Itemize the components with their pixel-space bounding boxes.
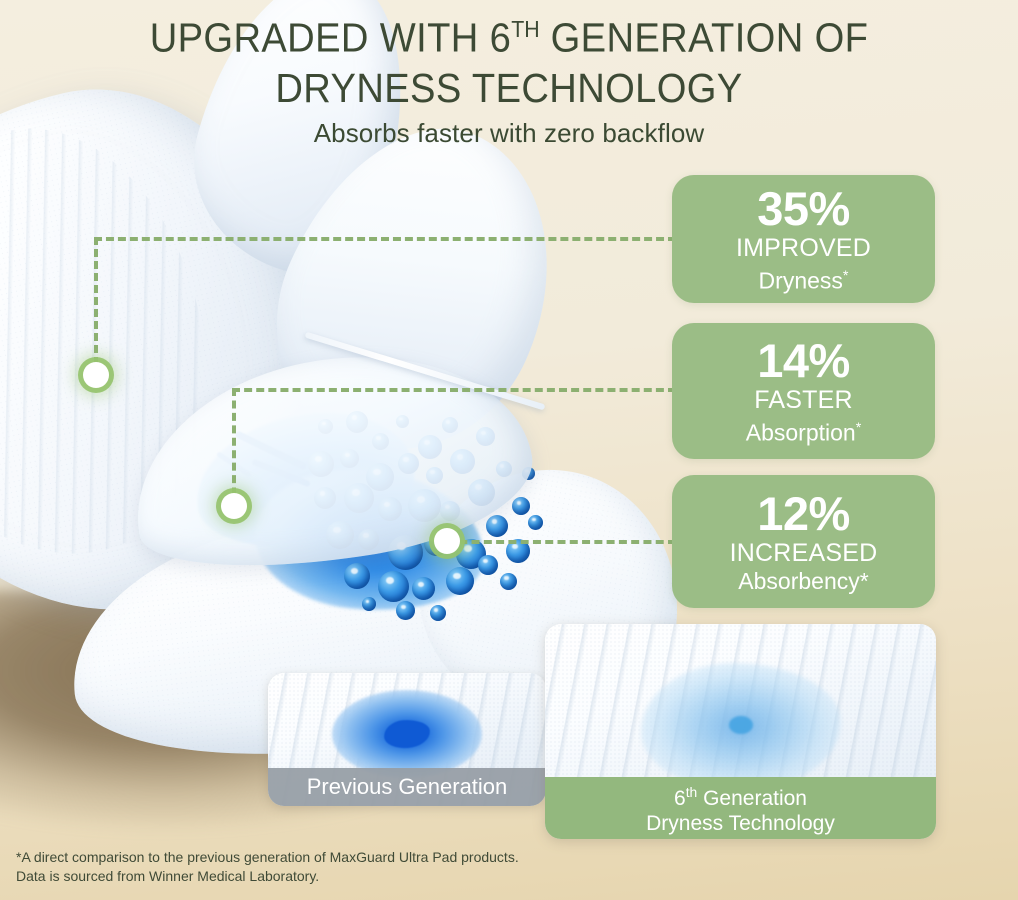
- callout-line-vertical-1: [94, 237, 98, 377]
- footnote: *A direct comparison to the previous gen…: [16, 848, 656, 886]
- comparison-label-line1: 6th Generation: [674, 780, 807, 811]
- page-title: UPGRADED WITH 6TH GENERATION OF DRYNESS …: [36, 4, 983, 113]
- title-line2: DRYNESS TECHNOLOGY: [36, 63, 983, 113]
- gel-bead: [430, 605, 446, 621]
- gel-bead: [512, 497, 530, 515]
- footnote-asterisk: *: [843, 268, 849, 284]
- gel-bead: [528, 515, 543, 530]
- title-line1-rest: GENERATION OF: [540, 15, 869, 61]
- comparison-label-previous: Previous Generation: [268, 768, 546, 806]
- generation-ordinal-suffix: th: [686, 784, 698, 800]
- page-subtitle: Absorbs faster with zero backflow: [0, 118, 1018, 149]
- stat-card-absorbency[interactable]: 12% INCREASED Absorbency*: [672, 475, 935, 608]
- gel-bead: [362, 597, 376, 611]
- title-line1-text: UPGRADED WITH 6: [150, 15, 511, 61]
- footnote-line2: Data is sourced from Winner Medical Labo…: [16, 867, 656, 886]
- stat-label-text: Dryness: [759, 267, 843, 293]
- callout-line-horizontal-1: [94, 237, 676, 241]
- footnote-line1: *A direct comparison to the previous gen…: [16, 848, 656, 867]
- generation-word: Generation: [697, 787, 807, 810]
- callout-line-vertical-2: [232, 388, 236, 508]
- gel-bead: [344, 563, 370, 589]
- callout-dot-1[interactable]: [83, 362, 109, 388]
- gel-bead: [412, 577, 435, 600]
- gel-bead: [500, 573, 517, 590]
- stat-percent: 12%: [757, 489, 850, 539]
- stat-label: Absorbency*: [738, 568, 868, 595]
- stat-card-dryness[interactable]: 35% IMPROVED Dryness*: [672, 175, 935, 303]
- stat-keyword: IMPROVED: [736, 234, 871, 263]
- gel-bead: [378, 571, 409, 602]
- generation-number: 6: [674, 787, 686, 810]
- stat-label: Absorption*: [746, 415, 862, 447]
- comparison-label-line2: Dryness Technology: [646, 811, 835, 836]
- stat-percent: 35%: [757, 184, 850, 234]
- comparison-label-current: 6th Generation Dryness Technology: [545, 777, 936, 839]
- stat-label-text: Absorption: [746, 419, 856, 445]
- gel-bead: [486, 515, 508, 537]
- comparison-panel-previous[interactable]: Previous Generation: [268, 673, 546, 806]
- footnote-asterisk: *: [856, 420, 862, 436]
- callout-dot-3[interactable]: [434, 528, 460, 554]
- callout-dot-2[interactable]: [221, 493, 247, 519]
- gel-bead: [478, 555, 498, 575]
- callout-line-horizontal-3: [447, 540, 676, 544]
- gel-bead: [396, 601, 415, 620]
- stat-card-absorption[interactable]: 14% FASTER Absorption*: [672, 323, 935, 459]
- comparison-panel-current[interactable]: 6th Generation Dryness Technology: [545, 624, 936, 839]
- title-ordinal-suffix: TH: [511, 16, 539, 42]
- stat-label: Dryness*: [759, 263, 849, 295]
- stat-keyword: INCREASED: [730, 539, 878, 568]
- stat-percent: 14%: [757, 336, 850, 386]
- gel-bead: [446, 567, 474, 595]
- infographic-root: UPGRADED WITH 6TH GENERATION OF DRYNESS …: [0, 0, 1018, 900]
- callout-line-horizontal-2: [232, 388, 676, 392]
- stat-keyword: FASTER: [754, 386, 852, 415]
- liquid-stain-core: [729, 716, 753, 734]
